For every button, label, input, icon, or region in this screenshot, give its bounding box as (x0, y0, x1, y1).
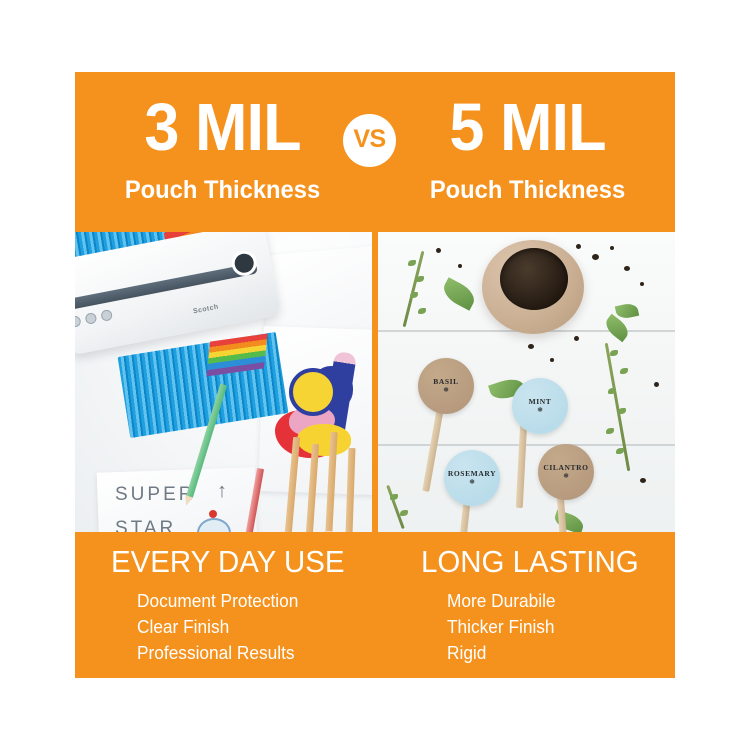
marker-disc: MINT ❅ (512, 378, 568, 434)
soil-speck (576, 244, 581, 249)
soil-speck (458, 264, 462, 268)
painting-yellow-blob (297, 424, 351, 456)
list-item: Professional Results (137, 641, 365, 667)
marker-flourish-icon: ❅ (537, 407, 543, 414)
soil-speck (640, 478, 646, 483)
soil-speck (436, 248, 441, 253)
soil-speck (592, 254, 599, 260)
list-item: Rigid (447, 641, 675, 667)
marker-disc: BASIL ❅ (418, 358, 474, 414)
release-button-icon (100, 309, 113, 322)
footer-heading-every-day-use: EVERY DAY USE (111, 546, 362, 577)
soil-speck (574, 336, 579, 341)
soil-speck (610, 246, 614, 250)
infographic-canvas: 3 MIL Pouch Thickness VS 5 MIL Pouch Thi… (0, 0, 750, 750)
marker-flourish-icon: ❅ (443, 387, 449, 394)
footer-heading-long-lasting: LONG LASTING (421, 546, 672, 577)
list-item: More Durabile (447, 589, 675, 615)
laminator-button-group (75, 309, 113, 328)
potting-soil (500, 248, 568, 310)
setting-button-icon (84, 312, 97, 325)
marker-label-mint: MINT (529, 398, 552, 406)
handwriting-star: STAR (115, 518, 176, 532)
power-button-icon (75, 315, 82, 328)
handdrawn-red-dot (209, 510, 217, 518)
soil-speck (654, 382, 659, 387)
marker-flourish-icon: ❅ (469, 479, 475, 486)
photo-herb-markers: BASIL ❅ MINT ❅ ROSEMARY ❅ (378, 232, 675, 532)
versus-label: VS (353, 127, 385, 154)
footer-right-column: LONG LASTING More Durabile Thicker Finis… (395, 532, 675, 667)
list-item: Document Protection (137, 589, 365, 615)
photo-laminator-artwork: Scotch SUPER STAR ↑ (75, 232, 372, 532)
childrens-painting (271, 350, 372, 484)
handdrawn-arrow-icon: ↑ (217, 480, 227, 503)
subhead-right-pouch-thickness: Pouch Thickness (402, 178, 654, 203)
footer-left-column: EVERY DAY USE Document Protection Clear … (85, 532, 375, 667)
marker-disc: CILANTRO ❅ (538, 444, 594, 500)
header-band: 3 MIL Pouch Thickness VS 5 MIL Pouch Thi… (75, 72, 675, 232)
photo-band: Scotch SUPER STAR ↑ (75, 232, 675, 532)
list-item: Thicker Finish (447, 615, 675, 641)
footer-right-benefit-list: More Durabile Thicker Finish Rigid (395, 589, 675, 667)
footer-band: EVERY DAY USE Document Protection Clear … (75, 532, 675, 678)
marker-label-rosemary: ROSEMARY (448, 470, 496, 478)
laminator-feed-slot (75, 262, 258, 309)
headline-3-mil: 3 MIL (98, 94, 347, 161)
soil-speck (528, 344, 534, 349)
terracotta-pot (482, 240, 584, 334)
marker-disc: ROSEMARY ❅ (444, 450, 500, 506)
painting-sun-shape (289, 368, 337, 416)
marker-label-basil: BASIL (433, 378, 459, 386)
header-right-column: 5 MIL Pouch Thickness (395, 72, 660, 232)
versus-badge: VS (343, 114, 396, 167)
soil-speck (640, 282, 644, 286)
list-item: Clear Finish (137, 615, 365, 641)
header-left-column: 3 MIL Pouch Thickness (90, 72, 355, 232)
plank-seam-2 (378, 444, 675, 446)
footer-left-benefit-list: Document Protection Clear Finish Profess… (85, 589, 375, 667)
orange-comparison-panel: 3 MIL Pouch Thickness VS 5 MIL Pouch Thi… (75, 72, 675, 678)
soil-speck (550, 358, 554, 362)
marker-flourish-icon: ❅ (563, 473, 569, 480)
marker-label-cilantro: CILANTRO (543, 464, 588, 472)
soil-speck (624, 266, 630, 271)
headline-5-mil: 5 MIL (403, 94, 652, 161)
subhead-left-pouch-thickness: Pouch Thickness (97, 178, 349, 203)
